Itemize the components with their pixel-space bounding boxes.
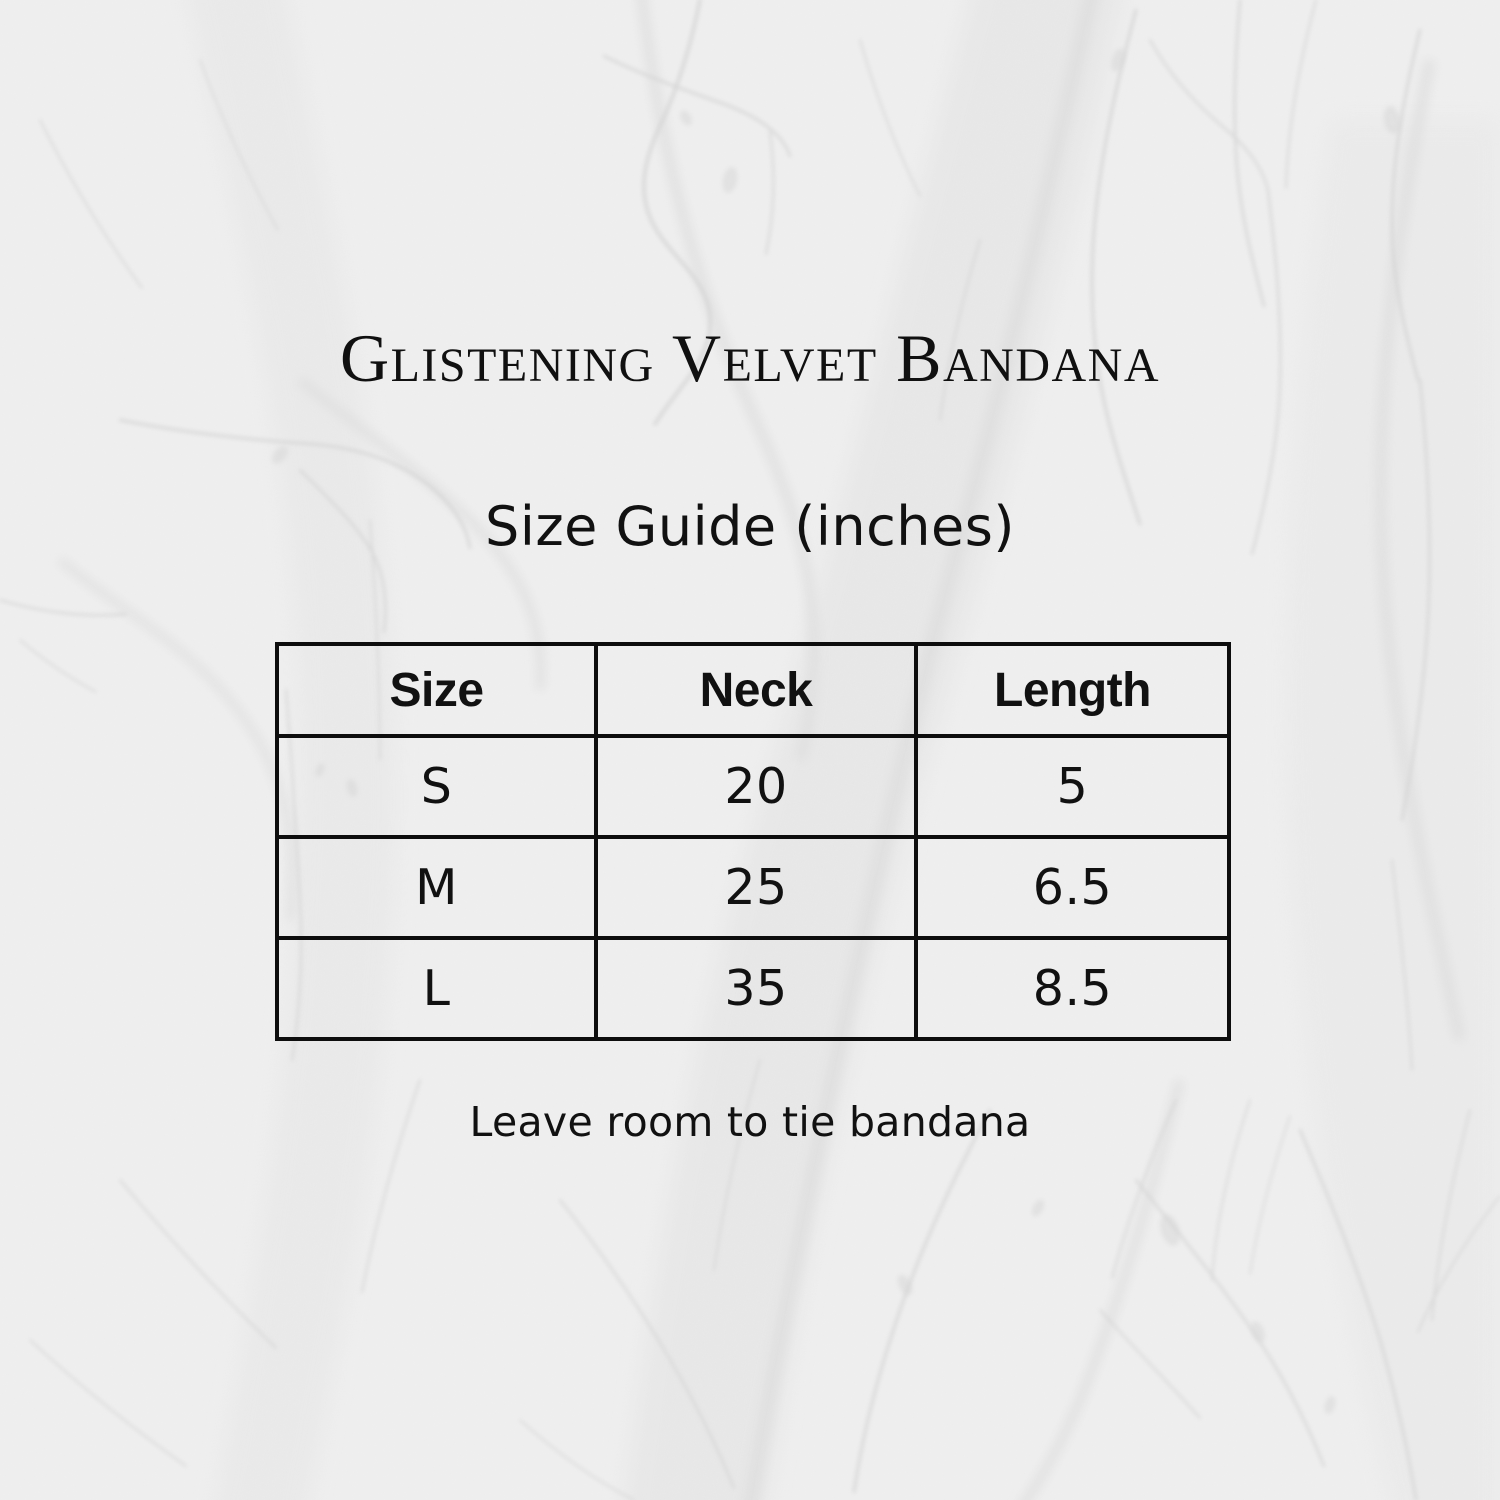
column-header-neck: Neck <box>596 644 916 736</box>
column-header-size: Size <box>277 644 596 736</box>
size-guide-canvas: Glistening Velvet Bandana Size Guide (in… <box>0 0 1500 1500</box>
table-header: Size Neck Length <box>277 644 1229 736</box>
cell-neck: 35 <box>596 938 916 1039</box>
page-title: Glistening Velvet Bandana <box>0 322 1500 395</box>
cell-neck: 25 <box>596 837 916 938</box>
cell-size: S <box>277 736 596 837</box>
cell-length: 6.5 <box>916 837 1229 938</box>
size-guide-content: Glistening Velvet Bandana Size Guide (in… <box>0 0 1500 1500</box>
table-row: S 20 5 <box>277 736 1229 837</box>
table-row: L 35 8.5 <box>277 938 1229 1039</box>
cell-length: 8.5 <box>916 938 1229 1039</box>
cell-size: L <box>277 938 596 1039</box>
size-guide-table: Size Neck Length S 20 5 M 25 6.5 L <box>275 642 1231 1041</box>
cell-neck: 20 <box>596 736 916 837</box>
column-header-length: Length <box>916 644 1229 736</box>
cell-size: M <box>277 837 596 938</box>
table-row: M 25 6.5 <box>277 837 1229 938</box>
table-header-row: Size Neck Length <box>277 644 1229 736</box>
size-guide-subtitle: Size Guide (inches) <box>0 495 1500 558</box>
size-guide-note: Leave room to tie bandana <box>0 1098 1500 1146</box>
cell-length: 5 <box>916 736 1229 837</box>
table-body: S 20 5 M 25 6.5 L 35 8.5 <box>277 736 1229 1039</box>
